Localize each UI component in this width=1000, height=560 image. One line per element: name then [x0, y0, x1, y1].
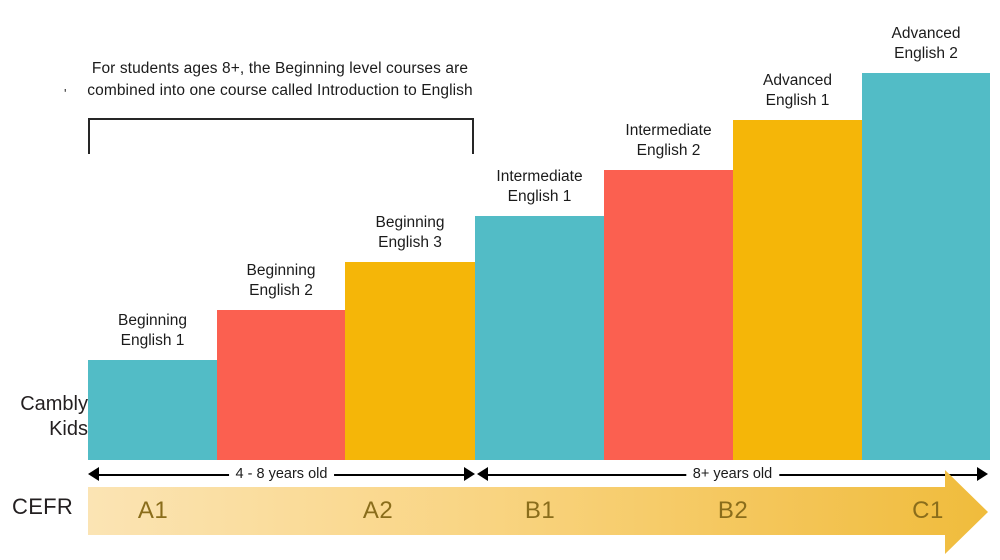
bar-beginning-english-3: [345, 262, 475, 460]
bar-label-intermediate-english-2: Intermediate English 2: [604, 121, 733, 161]
bar-label-line-2: English 2: [862, 44, 990, 64]
annotation-bracket: [88, 118, 474, 154]
cambly-kids-axis-label: Cambly Kids: [10, 392, 88, 442]
bar-label-beginning-english-2: Beginning English 2: [217, 261, 345, 301]
bar-label-line-1: Advanced: [733, 71, 862, 91]
bar-label-advanced-english-1: Advanced English 1: [733, 71, 862, 111]
bar-intermediate-english-2: [604, 170, 733, 460]
bar-label-line-2: English 1: [475, 187, 604, 207]
cefr-tick-b1: B1: [475, 487, 605, 535]
bar-label-line-2: English 3: [345, 233, 475, 253]
bar-label-line-1: Beginning: [88, 311, 217, 331]
annotation-note: For students ages 8+, the Beginning leve…: [70, 58, 490, 103]
bar-beginning-english-1: [88, 360, 217, 460]
cambly-kids-label-line-1: Cambly: [10, 392, 88, 417]
cefr-tick-a2: A2: [313, 487, 443, 535]
bar-label-line-2: English 1: [733, 91, 862, 111]
annotation-note-line-2: combined into one course called Introduc…: [70, 80, 490, 102]
cefr-tick-b2: B2: [668, 487, 798, 535]
bar-label-intermediate-english-1: Intermediate English 1: [475, 167, 604, 207]
cambly-kids-level-chart: ' For students ages 8+, the Beginning le…: [0, 0, 1000, 560]
cefr-tick-c1: C1: [863, 487, 993, 535]
bar-label-line-1: Beginning: [345, 213, 475, 233]
bar-label-line-2: English 1: [88, 331, 217, 351]
bar-label-line-1: Intermediate: [475, 167, 604, 187]
annotation-note-line-1: For students ages 8+, the Beginning leve…: [70, 58, 490, 80]
cefr-tick-a1: A1: [88, 487, 218, 535]
bar-label-line-1: Intermediate: [604, 121, 733, 141]
bar-label-line-2: English 2: [604, 141, 733, 161]
cambly-kids-label-line-2: Kids: [10, 417, 88, 442]
bar-beginning-english-2: [217, 310, 345, 460]
cefr-level-ticks: A1 A2 B1 B2 C1: [88, 487, 948, 535]
bar-intermediate-english-1: [475, 216, 604, 460]
bar-advanced-english-1: [733, 120, 862, 460]
cefr-axis-label: CEFR: [12, 494, 73, 520]
stray-tick-mark: ': [64, 86, 66, 101]
bar-label-line-2: English 2: [217, 281, 345, 301]
bar-label-line-1: Advanced: [862, 24, 990, 44]
bar-label-line-1: Beginning: [217, 261, 345, 281]
bar-label-beginning-english-1: Beginning English 1: [88, 311, 217, 351]
bar-label-advanced-english-2: Advanced English 2: [862, 24, 990, 64]
bar-advanced-english-2: [862, 73, 990, 460]
bar-label-beginning-english-3: Beginning English 3: [345, 213, 475, 253]
